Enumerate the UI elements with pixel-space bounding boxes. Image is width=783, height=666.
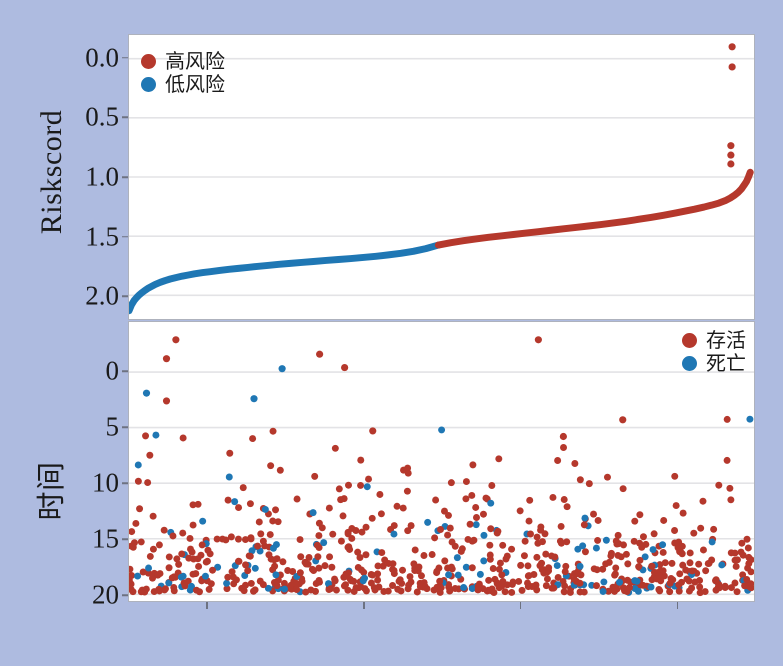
scatter-point	[740, 552, 747, 559]
scatter-point	[376, 491, 383, 498]
scatter-point	[404, 488, 411, 495]
scatter-point	[699, 498, 706, 505]
scatter-point	[420, 552, 427, 559]
scatter-point	[332, 445, 339, 452]
scatter-outlier-point	[163, 397, 170, 404]
scatter-point	[342, 573, 349, 580]
scatter-point	[482, 495, 489, 502]
scatter-point	[375, 584, 382, 591]
scatter-point	[199, 518, 206, 525]
scatter-outlier-point	[560, 433, 567, 440]
scatter-point	[350, 578, 357, 585]
scatter-point	[731, 550, 738, 557]
scatter-point	[679, 550, 686, 557]
scatter-point	[526, 518, 533, 525]
scatter-point	[169, 574, 176, 581]
legend-dot-low-risk	[141, 77, 156, 92]
scatter-point	[612, 564, 619, 571]
scatter-point	[404, 465, 411, 472]
scatter-point	[315, 565, 322, 572]
scatter-point	[579, 542, 586, 549]
scatter-point	[445, 571, 452, 578]
scatter-point	[316, 520, 323, 527]
scatter-point	[394, 586, 401, 593]
scatter-point	[272, 571, 279, 578]
scatter-point	[487, 500, 494, 507]
scatter-point	[649, 563, 656, 570]
scatter-point	[207, 550, 214, 557]
scatter-point	[586, 480, 593, 487]
scatter-point	[724, 416, 731, 423]
scatter-point	[604, 474, 611, 481]
scatter-point	[149, 575, 156, 582]
scatter-point	[229, 568, 236, 575]
scatter-point	[477, 571, 484, 578]
scatter-point	[270, 428, 277, 435]
scatter-outlier-point	[369, 427, 376, 434]
scatter-point	[378, 549, 385, 556]
scatter-point	[734, 588, 741, 595]
scatter-point	[533, 554, 540, 561]
scatter-point	[195, 501, 202, 508]
scatter-point	[590, 511, 597, 518]
scatter-point	[136, 505, 143, 512]
scatter-point	[490, 565, 497, 572]
riskscore-panel: 高风险 低风险	[128, 34, 755, 320]
y-tick-label: 2.0	[0, 283, 128, 310]
scatter-point	[365, 476, 372, 483]
scatter-point	[486, 542, 493, 549]
scatter-point	[185, 555, 192, 562]
scatter-point	[231, 498, 238, 505]
scatter-point	[687, 559, 694, 566]
scatter-point	[480, 532, 487, 539]
scatter-point	[368, 580, 375, 587]
scatter-point	[686, 578, 693, 585]
scatter-point	[341, 495, 348, 502]
scatter-point	[150, 546, 157, 553]
scatter-point	[189, 549, 196, 556]
scatter-point	[336, 485, 343, 492]
scatter-point	[161, 586, 168, 593]
scatter-point	[526, 497, 533, 504]
scatter-point	[444, 532, 451, 539]
scatter-point	[143, 586, 150, 593]
scatter-point	[310, 509, 317, 516]
scatter-point	[611, 572, 618, 579]
scatter-outlier-point	[535, 336, 542, 343]
scatter-point	[433, 568, 440, 575]
x-tick-mark	[363, 602, 365, 609]
scatter-point	[235, 558, 242, 565]
scatter-point	[620, 541, 627, 548]
legend-label-death: 死亡	[706, 353, 746, 373]
scatter-point	[702, 567, 709, 574]
scatter-point	[728, 584, 735, 591]
x-tick-mark	[677, 602, 679, 609]
scatter-outlier-point	[279, 365, 286, 372]
scatter-point	[132, 520, 139, 527]
scatter-point	[633, 578, 640, 585]
outlier-point	[727, 160, 734, 167]
scatter-point	[710, 526, 717, 533]
scatter-point	[194, 555, 201, 562]
scatter-point	[656, 572, 663, 579]
scatter-point	[438, 426, 445, 433]
scatter-point	[150, 513, 157, 520]
scatter-point	[525, 573, 532, 580]
scatter-point	[302, 589, 309, 596]
scatter-point	[636, 540, 643, 547]
scatter-point	[616, 579, 623, 586]
scatter-point	[534, 540, 541, 547]
legend-label-high-risk: 高风险	[165, 51, 225, 71]
scatter-point	[571, 570, 578, 577]
scatter-point	[533, 582, 540, 589]
scatter-point	[487, 525, 494, 532]
scatter-point	[611, 588, 618, 595]
scatter-point	[561, 582, 568, 589]
legend-item-death[interactable]: 死亡	[682, 353, 746, 373]
scatter-point	[687, 549, 694, 556]
scatter-point	[206, 586, 213, 593]
scatter-point	[316, 577, 323, 584]
scatter-point	[195, 563, 202, 570]
scatter-point	[656, 587, 663, 594]
scatter-point	[144, 479, 151, 486]
scatter-point	[223, 580, 230, 587]
scatter-point	[355, 564, 362, 571]
scatter-point	[224, 574, 231, 581]
scatter-point	[297, 536, 304, 543]
scatter-point	[689, 567, 696, 574]
scatter-point	[660, 517, 667, 524]
scatter-point	[614, 552, 621, 559]
scatter-point	[369, 572, 376, 579]
scatter-point	[374, 577, 381, 584]
scatter-point	[508, 589, 515, 596]
scatter-point	[744, 536, 751, 543]
scatter-point	[545, 564, 552, 571]
figure-root: 2.01.51.00.50.0 Riskscord 高风险 低风险 201510…	[0, 0, 783, 666]
scatter-point	[326, 505, 333, 512]
scatter-point	[156, 541, 163, 548]
scatter-point	[272, 506, 279, 513]
scatter-point	[381, 557, 388, 564]
scatter-point	[671, 540, 678, 547]
scatter-point	[581, 521, 588, 528]
scatter-point	[472, 504, 479, 511]
scatter-point	[190, 522, 197, 529]
scatter-point	[222, 536, 229, 543]
scatter-point	[678, 579, 685, 586]
scatter-point	[152, 432, 159, 439]
scatter-point	[166, 564, 173, 571]
scatter-point	[348, 535, 355, 542]
scatter-point	[666, 588, 673, 595]
scatter-point	[700, 546, 707, 553]
scatter-point	[142, 432, 149, 439]
scatter-point	[676, 588, 683, 595]
scatter-point	[624, 577, 631, 584]
scatter-point	[351, 588, 358, 595]
scatter-point	[480, 557, 487, 564]
scatter-point	[241, 587, 248, 594]
scatter-point	[441, 557, 448, 564]
scatter-point	[549, 494, 556, 501]
scatter-point	[196, 588, 203, 595]
scatter-point	[640, 533, 647, 540]
scatter-point	[595, 517, 602, 524]
legend-item-survival[interactable]: 存活	[682, 330, 746, 350]
scatter-point	[267, 462, 274, 469]
scatter-point	[269, 517, 276, 524]
scatter-point	[225, 497, 232, 504]
scatter-point	[375, 562, 382, 569]
scatter-point	[424, 519, 431, 526]
scatter-point	[431, 534, 438, 541]
scatter-point	[448, 479, 455, 486]
scatter-point	[181, 579, 188, 586]
scatter-point	[551, 554, 558, 561]
scatter-point	[180, 434, 187, 441]
scatter-point	[187, 535, 194, 542]
scatter-point	[455, 572, 462, 579]
scatter-point	[356, 554, 363, 561]
scatter-point	[145, 565, 152, 572]
scatter-point	[204, 558, 211, 565]
scatter-point	[508, 546, 515, 553]
legend-dot-high-risk	[141, 54, 156, 69]
scatter-point	[624, 560, 631, 567]
scatter-point	[260, 538, 267, 545]
scatter-point	[718, 561, 725, 568]
scatter-point	[327, 585, 334, 592]
scatter-point	[746, 416, 753, 423]
scatter-point	[567, 589, 574, 596]
scatter-point	[475, 586, 482, 593]
scatter-point	[312, 588, 319, 595]
scatter-point	[496, 566, 503, 573]
scatter-point	[503, 556, 510, 563]
scatter-point	[292, 580, 299, 587]
scatter-point	[564, 503, 571, 510]
scatter-point	[607, 552, 614, 559]
scatter-point	[469, 538, 476, 545]
scatter-point	[214, 536, 221, 543]
y-tick-label: 20	[0, 582, 128, 609]
legend-label-survival: 存活	[706, 330, 746, 350]
scatter-point	[615, 532, 622, 539]
scatter-point	[495, 455, 502, 462]
scatter-point	[248, 580, 255, 587]
scatter-point	[294, 496, 301, 503]
scatter-point	[733, 563, 740, 570]
scatter-point	[135, 478, 142, 485]
scatter-point	[431, 587, 438, 594]
scatter-point	[179, 530, 186, 537]
scatter-point	[389, 566, 396, 573]
legend-dot-survival	[682, 333, 697, 348]
scatter-point	[577, 563, 584, 570]
scatter-point	[668, 560, 675, 567]
legend-item-low-risk[interactable]: 低风险	[141, 74, 225, 94]
scatter-point	[134, 573, 141, 580]
scatter-point	[362, 551, 369, 558]
scatter-point	[705, 560, 712, 567]
scatter-point	[458, 548, 465, 555]
scatter-outlier-point	[619, 416, 626, 423]
scatter-point	[454, 554, 461, 561]
scatter-point	[544, 575, 551, 582]
scatter-point	[727, 496, 734, 503]
outlier-point	[729, 43, 736, 50]
series-低风险	[129, 245, 438, 311]
series-高风险	[438, 172, 750, 245]
scatter-point	[485, 577, 492, 584]
scatter-point	[446, 588, 453, 595]
scatter-point	[256, 518, 263, 525]
scatter-point	[671, 473, 678, 480]
scatter-point	[332, 577, 339, 584]
scatter-point	[169, 532, 176, 539]
scatter-point	[522, 538, 529, 545]
scatter-point	[473, 521, 480, 528]
scatter-point	[480, 511, 487, 518]
scatter-point	[671, 527, 678, 534]
scatter-point	[281, 586, 288, 593]
scatter-point	[690, 530, 697, 537]
scatter-point	[534, 534, 541, 541]
legend-item-high-risk[interactable]: 高风险	[141, 51, 225, 71]
scatter-point	[270, 545, 277, 552]
scatter-point	[562, 563, 569, 570]
scatter-point	[558, 540, 565, 547]
scatter-point	[328, 564, 335, 571]
scatter-point	[437, 526, 444, 533]
scatter-point	[345, 544, 352, 551]
scatter-point	[715, 482, 722, 489]
scatter-point	[394, 503, 401, 510]
scatter-point	[554, 457, 561, 464]
scatter-point	[668, 575, 675, 582]
scatter-point	[252, 586, 259, 593]
scatter-point	[235, 536, 242, 543]
scatter-point	[487, 556, 494, 563]
scatter-point	[571, 460, 578, 467]
scatter-point	[517, 507, 524, 514]
scatter-point	[680, 510, 687, 517]
scatter-point	[202, 573, 209, 580]
scatter-point	[352, 527, 359, 534]
scatter-point	[494, 530, 501, 537]
scatter-point	[247, 534, 254, 541]
scatter-point	[636, 557, 643, 564]
scatter-point	[173, 555, 180, 562]
scatter-point	[734, 556, 741, 563]
scatter-point	[517, 562, 524, 569]
scatter-point	[581, 515, 588, 522]
scatter-point	[709, 538, 716, 545]
scatter-point	[695, 561, 702, 568]
scatter-point	[297, 569, 304, 576]
scatter-point	[329, 531, 336, 538]
scatter-point	[603, 537, 610, 544]
scatter-point	[209, 567, 216, 574]
scatter-point	[262, 506, 269, 513]
scatter-point	[550, 585, 557, 592]
scatter-point	[713, 587, 720, 594]
scatter-point	[252, 565, 259, 572]
scatter-point	[745, 583, 752, 590]
scatter-point	[437, 589, 444, 596]
time-scatter-plot	[129, 322, 754, 601]
outlier-point	[727, 142, 734, 149]
scatter-point	[299, 578, 306, 585]
scatter-point	[613, 541, 620, 548]
scatter-point	[463, 478, 470, 485]
scatter-point	[462, 495, 469, 502]
scatter-point	[242, 561, 249, 568]
scatter-point	[360, 569, 367, 576]
scatter-point	[369, 515, 376, 522]
scatter-point	[722, 583, 729, 590]
scatter-point	[648, 584, 655, 591]
scatter-point	[488, 482, 495, 489]
scatter-point	[651, 530, 658, 537]
scatter-point	[404, 527, 411, 534]
scatter-point	[357, 457, 364, 464]
scatter-point	[499, 542, 506, 549]
scatter-point	[129, 528, 135, 535]
scatter-point	[320, 539, 327, 546]
scatter-point	[745, 560, 752, 567]
scatter-point	[260, 581, 267, 588]
scatter-point	[497, 560, 504, 567]
x-tick-mark	[520, 602, 522, 609]
scatter-point	[623, 551, 630, 558]
scatter-point	[226, 450, 233, 457]
scatter-point	[135, 462, 142, 469]
scatter-point	[631, 518, 638, 525]
scatter-point	[659, 541, 666, 548]
scatter-point	[697, 525, 704, 532]
scatter-point	[542, 551, 549, 558]
scatter-point	[271, 556, 278, 563]
scatter-point	[626, 584, 633, 591]
scatter-point	[620, 485, 627, 492]
time-panel: 存活 死亡	[128, 321, 755, 602]
scatter-point	[363, 524, 370, 531]
scatter-point	[240, 484, 247, 491]
scatter-point	[333, 587, 340, 594]
scatter-point	[582, 548, 589, 555]
scatter-point	[249, 435, 256, 442]
scatter-point	[662, 559, 669, 566]
scatter-point	[235, 504, 242, 511]
scatter-outlier-point	[172, 336, 179, 343]
scatter-point	[138, 538, 145, 545]
scatter-point	[166, 553, 173, 560]
scatter-point	[519, 587, 526, 594]
scatter-point	[577, 588, 584, 595]
scatter-point	[297, 553, 304, 560]
scatter-point	[146, 452, 153, 459]
scatter-point	[469, 461, 476, 468]
scatter-point	[340, 512, 347, 519]
scatter-point	[315, 532, 322, 539]
scatter-outlier-point	[316, 351, 323, 358]
